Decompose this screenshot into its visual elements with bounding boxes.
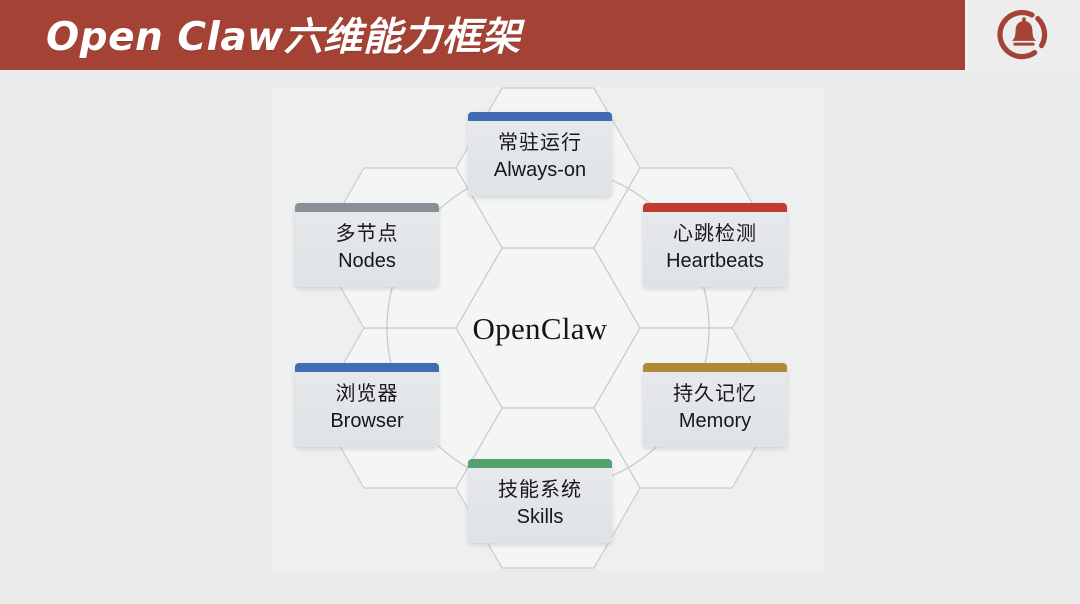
node-accent-bar-browser — [295, 363, 439, 372]
node-card-heartbeats[interactable]: 心跳检测 Heartbeats — [643, 203, 787, 287]
node-label-en: Always-on — [472, 158, 608, 184]
node-label-cn: 常驻运行 — [472, 130, 608, 156]
node-card-nodes[interactable]: 多节点 Nodes — [295, 203, 439, 287]
node-card-body: 心跳检测 Heartbeats — [643, 212, 787, 287]
node-accent-bar-skills — [468, 459, 612, 468]
header-logo-container — [968, 0, 1080, 70]
node-card-body: 浏览器 Browser — [295, 372, 439, 447]
node-card-body: 持久记忆 Memory — [643, 372, 787, 447]
node-accent-bar-always-on — [468, 112, 612, 121]
node-card-always-on[interactable]: 常驻运行 Always-on — [468, 112, 612, 196]
node-label-cn: 浏览器 — [299, 381, 435, 407]
node-accent-bar-heartbeats — [643, 203, 787, 212]
node-label-en: Heartbeats — [647, 249, 783, 275]
node-label-cn: 心跳检测 — [647, 221, 783, 247]
node-card-skills[interactable]: 技能系统 Skills — [468, 459, 612, 543]
node-label-cn: 多节点 — [299, 221, 435, 247]
header-band: Open Claw六维能力框架 — [0, 0, 968, 70]
diagram-center-label: OpenClaw — [0, 311, 1080, 347]
node-card-browser[interactable]: 浏览器 Browser — [295, 363, 439, 447]
node-label-en: Nodes — [299, 249, 435, 275]
node-label-cn: 持久记忆 — [647, 381, 783, 407]
slide-header: Open Claw六维能力框架 — [0, 0, 1080, 70]
node-label-en: Skills — [472, 505, 608, 531]
node-card-body: 技能系统 Skills — [468, 468, 612, 543]
page-title: Open Claw六维能力框架 — [0, 6, 521, 62]
bell-avatar-logo-icon — [996, 7, 1052, 63]
node-card-body: 常驻运行 Always-on — [468, 121, 612, 196]
node-card-memory[interactable]: 持久记忆 Memory — [643, 363, 787, 447]
node-accent-bar-memory — [643, 363, 787, 372]
node-accent-bar-nodes — [295, 203, 439, 212]
node-label-en: Browser — [299, 409, 435, 435]
slide-canvas: Open Claw六维能力框架 — [0, 0, 1080, 604]
node-label-en: Memory — [647, 409, 783, 435]
node-label-cn: 技能系统 — [472, 477, 608, 503]
node-card-body: 多节点 Nodes — [295, 212, 439, 287]
diagram-stage: 常驻运行 Always-on 心跳检测 Heartbeats 持久记忆 Memo… — [0, 70, 1080, 604]
